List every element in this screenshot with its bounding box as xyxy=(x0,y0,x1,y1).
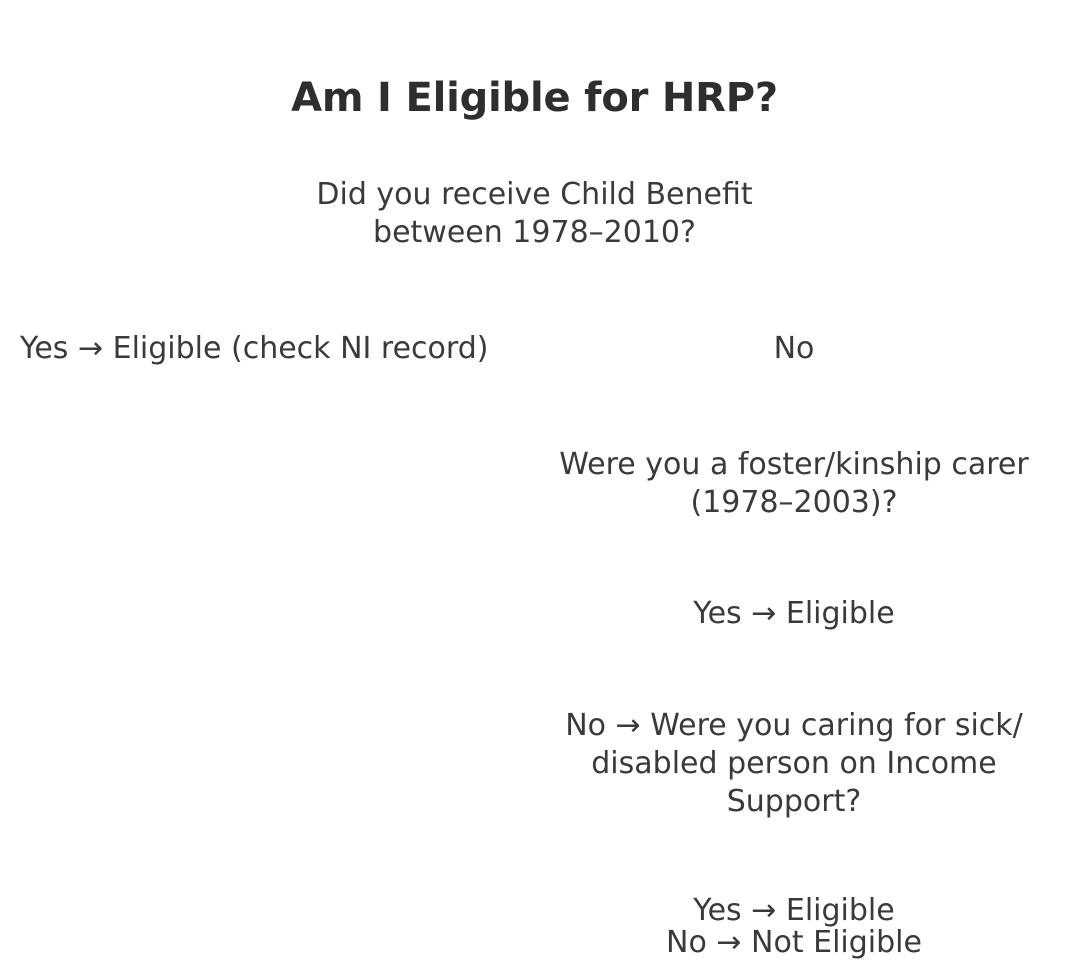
root-question-line-2: between 1978–2010? xyxy=(373,215,696,250)
root-question: Did you receive Child Benefit between 19… xyxy=(20,121,1049,252)
income-support-outcomes: Yes → Eligible No → Not Eligible xyxy=(539,821,1049,959)
page-title: Am I Eligible for HRP? xyxy=(20,20,1049,121)
root-question-line-1: Did you receive Child Benefit xyxy=(316,177,752,212)
root-yes-outcome: Yes → Eligible (check NI record) xyxy=(20,330,488,368)
foster-carer-question: Were you a foster/kinship carer (1978–20… xyxy=(539,368,1049,522)
decision-tree-page: Am I Eligible for HRP? Did you receive C… xyxy=(0,0,1069,969)
root-no-label: No xyxy=(539,330,1049,368)
foster-carer-question-line-2: (1978–2003)? xyxy=(539,484,1049,522)
foster-carer-question-line-1: Were you a foster/kinship carer xyxy=(539,446,1049,484)
foster-carer-yes-outcome: Yes → Eligible xyxy=(539,522,1049,633)
foster-carer-no-question-line-2: disabled person on Income Support? xyxy=(539,745,1049,821)
root-branch-row: Yes → Eligible (check NI record) No Were… xyxy=(20,252,1049,959)
foster-carer-no-question-line-1: No → Were you caring for sick/ xyxy=(539,707,1049,745)
income-support-yes-outcome: Yes → Eligible xyxy=(539,895,1049,927)
foster-carer-no-question: No → Were you caring for sick/ disabled … xyxy=(539,634,1049,821)
income-support-no-outcome: No → Not Eligible xyxy=(539,927,1049,959)
root-no-branch-column: No Were you a foster/kinship carer (1978… xyxy=(539,330,1049,959)
